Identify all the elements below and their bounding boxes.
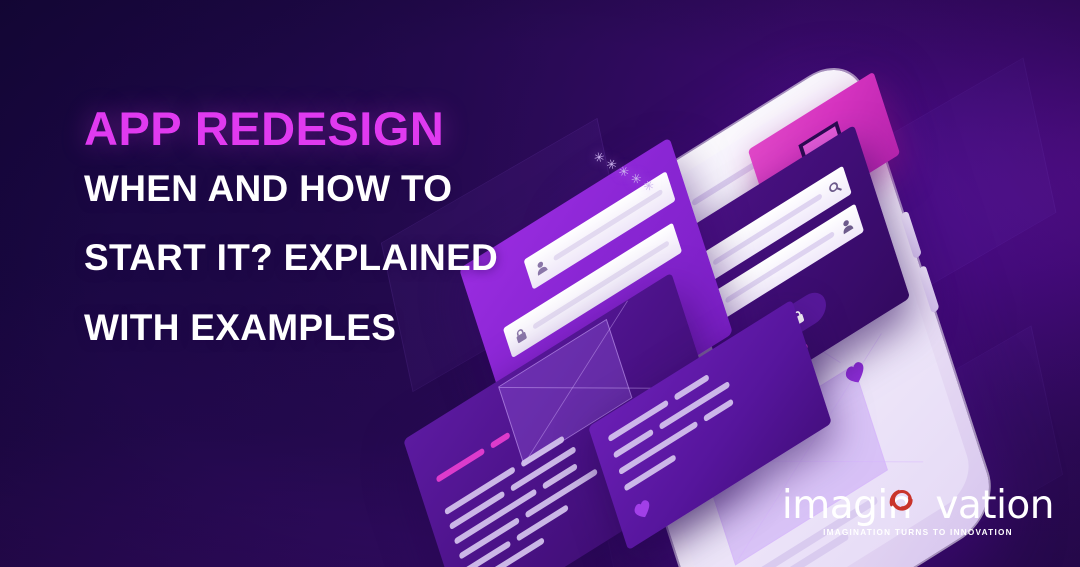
subtitle-line-2: START IT? EXPLAINED [84,223,584,293]
subtitle-line-3: WITH EXAMPLES [84,293,584,363]
app-redesign-banner: ✳✳✳✳✳ [0,0,1080,567]
swirl-o-icon [885,483,919,517]
page-title: APP REDESIGN [84,104,584,154]
logo-wordmark: imaginovation [782,486,1054,525]
search-icon [820,173,849,201]
logo-tagline: IMAGINATION TURNS TO INNOVATION [782,528,1054,537]
card-line [703,398,734,422]
banner-copy: APP REDESIGN WHEN AND HOW TO START IT? E… [84,104,584,362]
logo-word-after: vation [935,483,1054,528]
page-subtitle: WHEN AND HOW TO START IT? EXPLAINED WITH… [84,154,584,363]
brand-logo[interactable]: imaginovation IMAGINATION TURNS TO INNOV… [782,486,1054,537]
heart-icon [631,496,655,524]
card-line [516,504,569,542]
user-icon [832,211,861,239]
subtitle-line-1: WHEN AND HOW TO [84,154,584,224]
